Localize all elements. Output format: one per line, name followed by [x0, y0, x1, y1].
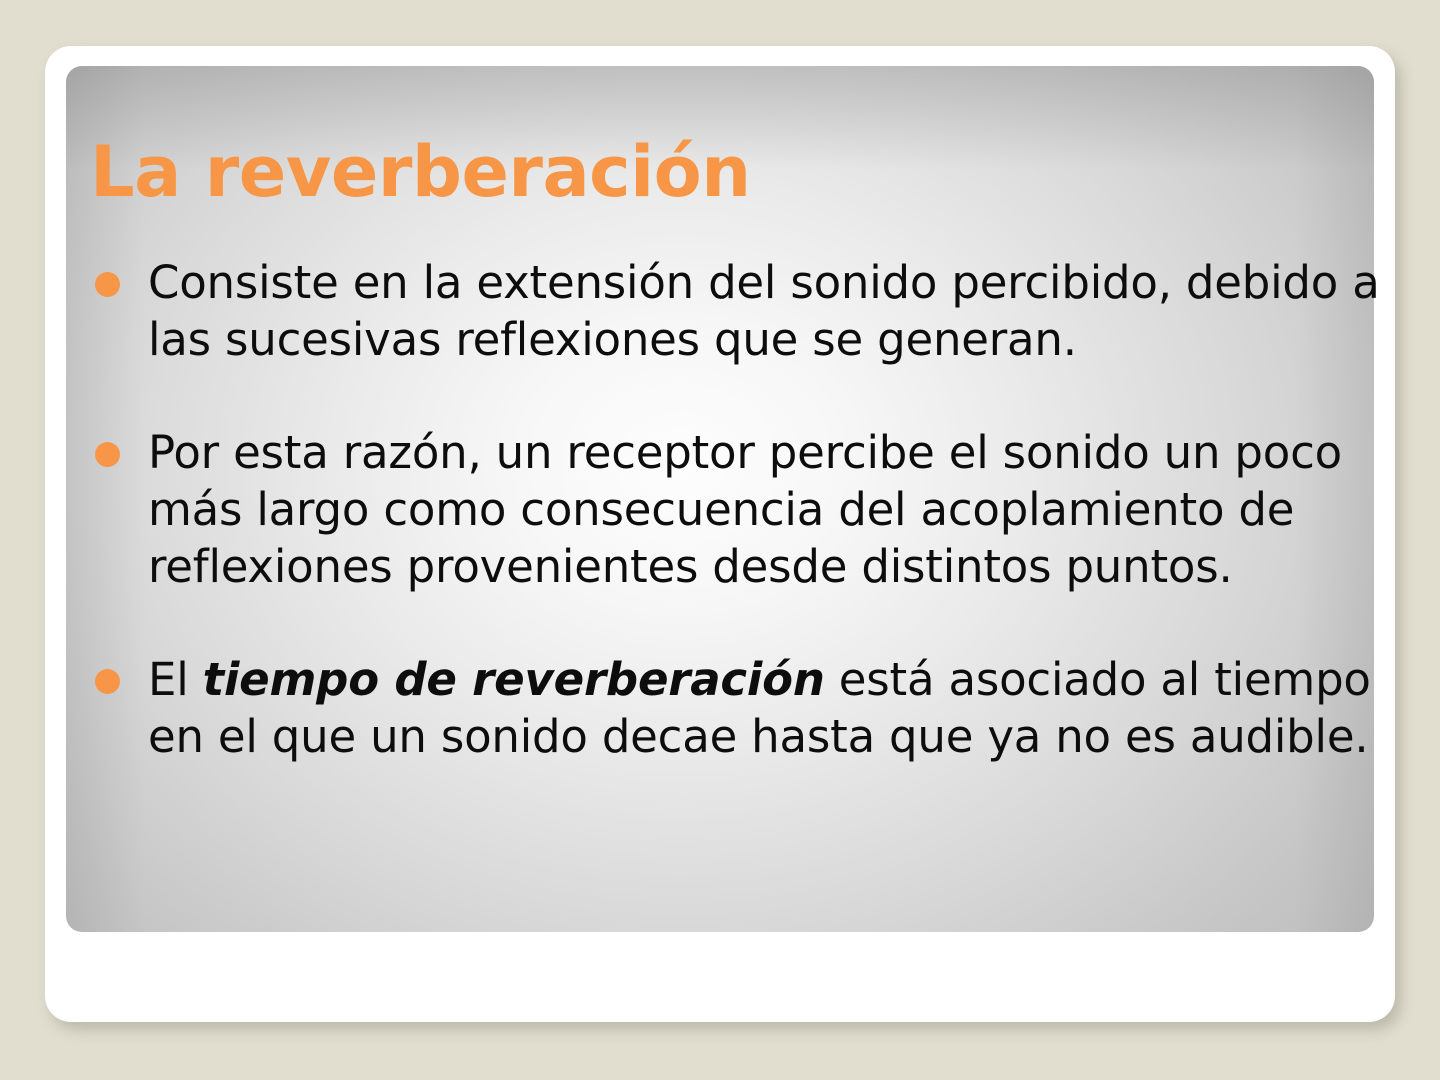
list-item-text-lead: El — [148, 653, 203, 706]
slide-text-layer: La reverberación Consiste en la extensió… — [66, 66, 1396, 996]
bullet-dot-icon — [95, 669, 120, 694]
list-item-emphasis: tiempo de reverberación — [203, 653, 825, 706]
list-item: Por esta razón, un receptor percibe el s… — [90, 424, 1380, 595]
bullet-list: Consiste en la extensión del sonido perc… — [90, 254, 1380, 765]
bullet-dot-icon — [95, 442, 120, 467]
slide-title: La reverberación — [90, 137, 751, 207]
list-item-text: Por esta razón, un receptor percibe el s… — [148, 424, 1380, 595]
presentation-slide: La reverberación Consiste en la extensió… — [0, 0, 1440, 1080]
list-item-text: El tiempo de reverberación está asociado… — [148, 651, 1380, 765]
bullet-dot-icon — [95, 272, 120, 297]
list-item: El tiempo de reverberación está asociado… — [90, 651, 1380, 765]
list-item-text: Consiste en la extensión del sonido perc… — [148, 254, 1380, 368]
list-item: Consiste en la extensión del sonido perc… — [90, 254, 1380, 368]
